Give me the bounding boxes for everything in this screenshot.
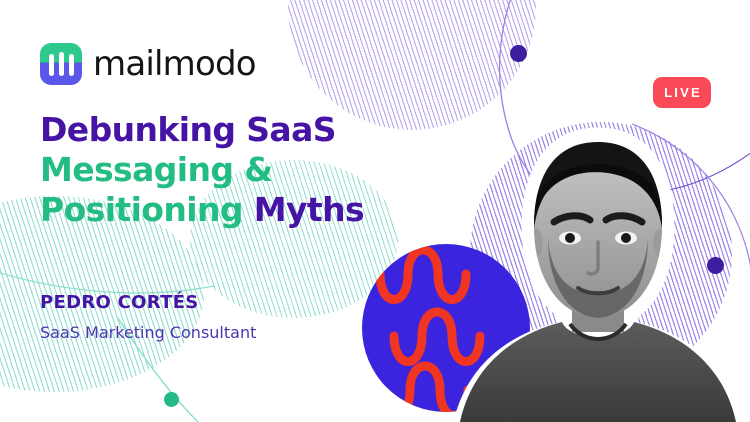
speaker-info: PEDRO CORTÉS SaaS Marketing Consultant [40, 292, 256, 342]
live-badge-label: LIVE [662, 85, 702, 100]
headline-line-2: Messaging & [40, 150, 440, 190]
avatar [448, 118, 748, 422]
brand-logo[interactable]: mailmodo [40, 43, 256, 85]
speaker-name: PEDRO CORTÉS [40, 292, 256, 314]
green-dot-lower-icon [164, 392, 179, 407]
headline-line-1: Debunking SaaS [40, 110, 440, 150]
webinar-promo-banner: mailmodo LIVE Debunking SaaS Messaging &… [0, 0, 750, 422]
headline-line-3-purple [243, 190, 254, 229]
purple-dot-upper-icon [510, 45, 527, 62]
mailmodo-logo-icon [40, 43, 82, 85]
headline-line-3: Positioning Myths [40, 190, 440, 230]
headline-line-3-myths: Myths [254, 190, 364, 229]
speaker-role: SaaS Marketing Consultant [40, 323, 256, 342]
page-title: Debunking SaaS Messaging & Positioning M… [40, 110, 440, 230]
headline-line-3-green: Positioning [40, 190, 243, 229]
brand-wordmark: mailmodo [93, 47, 256, 81]
status-badge: LIVE [653, 77, 711, 108]
